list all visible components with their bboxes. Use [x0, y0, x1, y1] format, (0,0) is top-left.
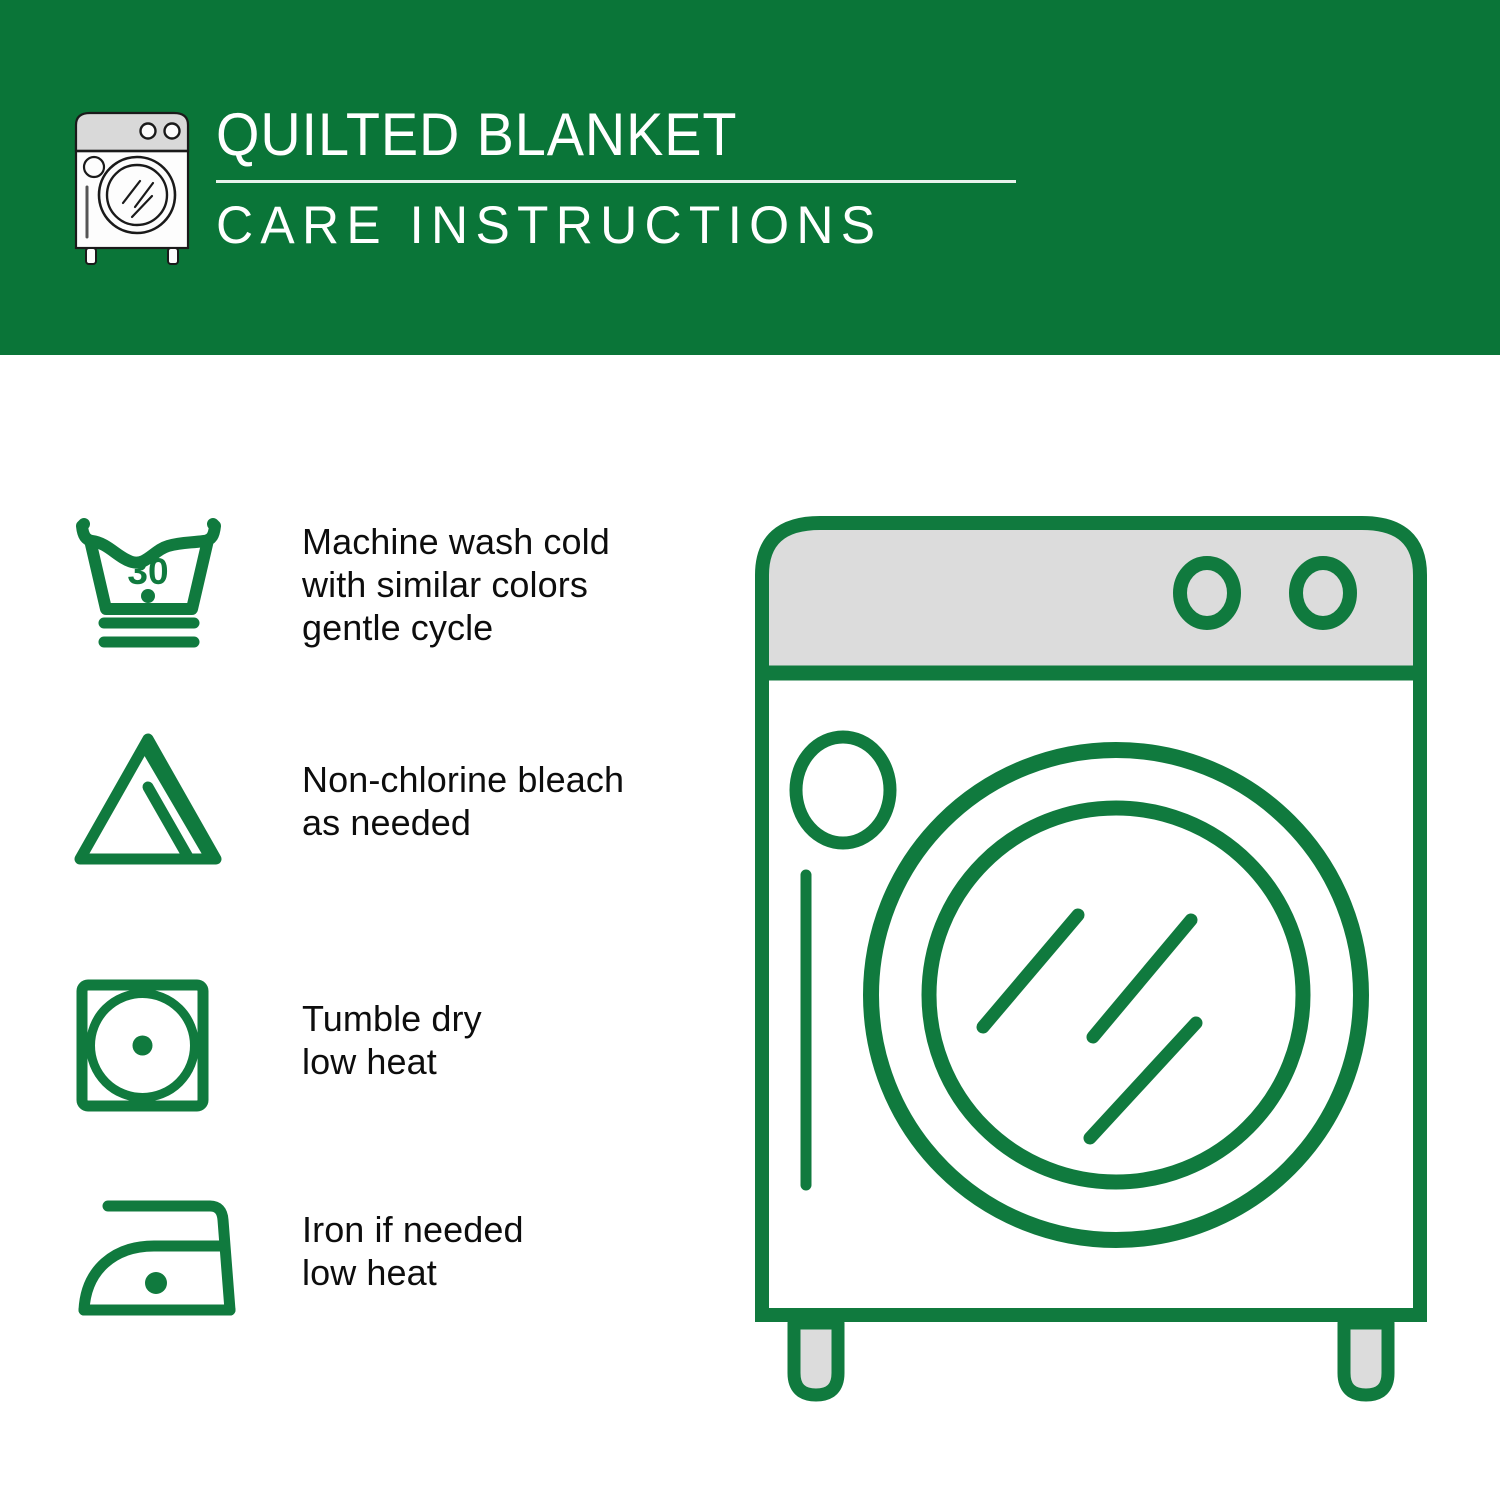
- large-washing-machine-illustration: [748, 505, 1448, 1405]
- washing-machine-logo-icon: [62, 103, 202, 268]
- title-divider: [216, 180, 1016, 183]
- care-label-wash: Machine wash cold with similar colors ge…: [302, 520, 610, 649]
- non-chlorine-bleach-triangle-icon: [70, 725, 230, 875]
- dial-knob-right: [1296, 563, 1350, 623]
- wash-temperature-value: 30: [127, 551, 168, 592]
- care-instruction-list: 30 Machine wash cold with similar colors…: [0, 355, 740, 1500]
- care-label-tumble-dry: Tumble dry low heat: [302, 997, 482, 1083]
- leg-left: [794, 1323, 838, 1395]
- care-instructions-label: QUILTED BLANKET CARE INSTRUCTIONS 30: [0, 0, 1500, 1500]
- tumble-dry-low-heat-icon: [70, 975, 215, 1125]
- wash-tub-30-icon: 30: [70, 510, 240, 660]
- page-subtitle: CARE INSTRUCTIONS: [216, 195, 1002, 257]
- care-label-bleach: Non-chlorine bleach as needed: [302, 758, 624, 844]
- leg-right: [1344, 1323, 1388, 1395]
- door-outer-ring: [871, 750, 1361, 1240]
- iron-low-heat-icon: [70, 1190, 245, 1330]
- dial-knob-left: [1180, 563, 1234, 623]
- header-title-block: QUILTED BLANKET CARE INSTRUCTIONS: [216, 100, 1026, 257]
- care-label-iron: Iron if needed low heat: [302, 1208, 524, 1294]
- page-title: QUILTED BLANKET: [216, 100, 969, 170]
- header-banner: QUILTED BLANKET CARE INSTRUCTIONS: [0, 0, 1500, 355]
- detergent-port-circle: [796, 737, 890, 843]
